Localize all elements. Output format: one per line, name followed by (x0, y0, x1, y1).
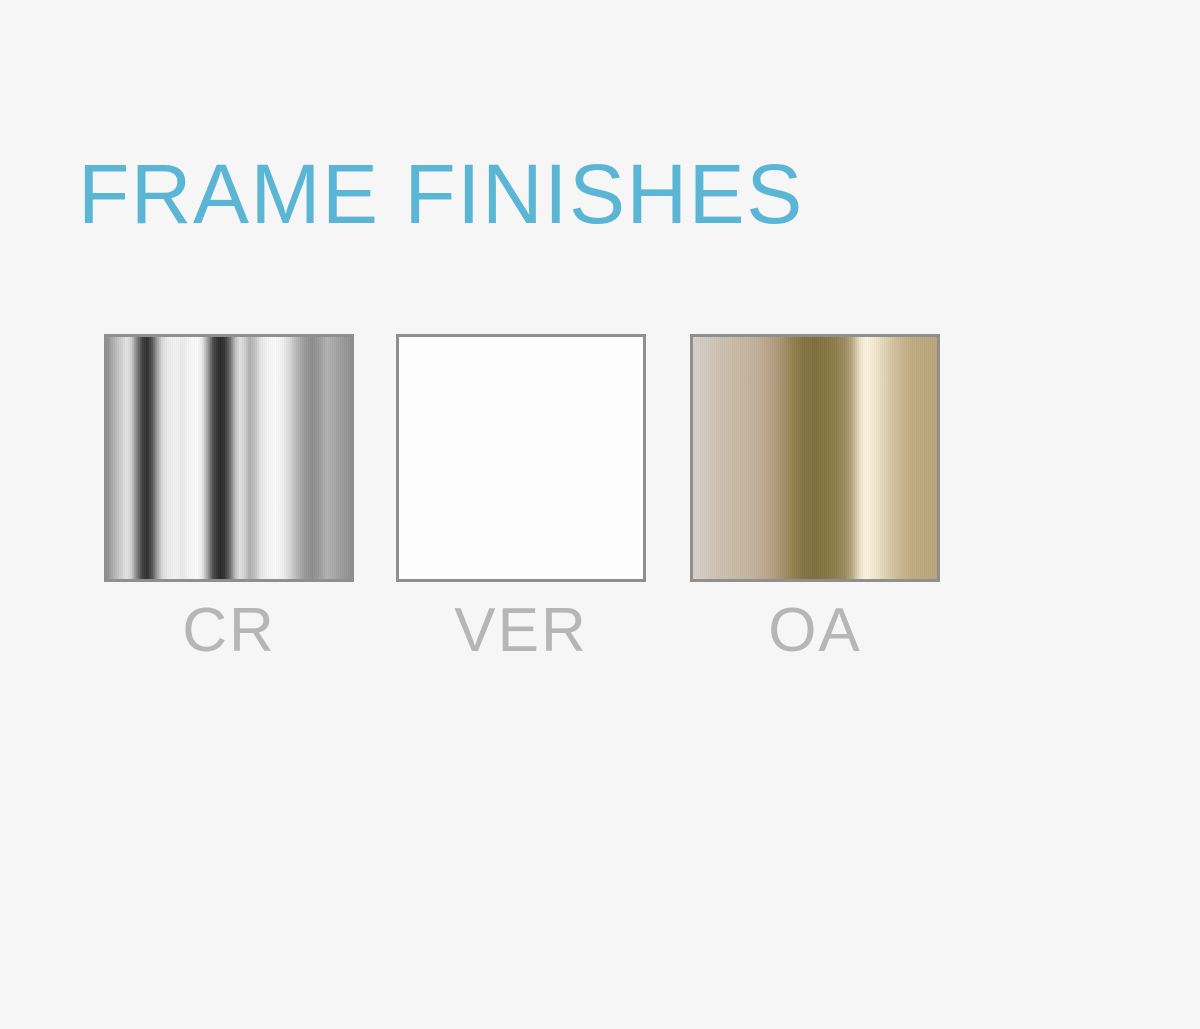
finish-option-oa[interactable]: OA (690, 334, 940, 662)
page-title: FRAME FINISHES (78, 152, 804, 236)
finish-label-cr: CR (104, 600, 354, 662)
brass-finish-swatch[interactable] (690, 334, 940, 582)
finish-option-ver[interactable]: VER (396, 334, 646, 662)
frame-finishes-panel: FRAME FINISHES CR VER OA (0, 0, 1200, 1029)
finish-label-ver: VER (396, 600, 646, 662)
white-finish-swatch[interactable] (396, 334, 646, 582)
brushed-texture-overlay (693, 337, 937, 579)
brushed-texture-overlay (107, 337, 351, 579)
finish-swatch-row: CR VER OA (104, 334, 944, 684)
finish-label-oa: OA (690, 600, 940, 662)
chrome-finish-swatch[interactable] (104, 334, 354, 582)
finish-option-cr[interactable]: CR (104, 334, 354, 662)
